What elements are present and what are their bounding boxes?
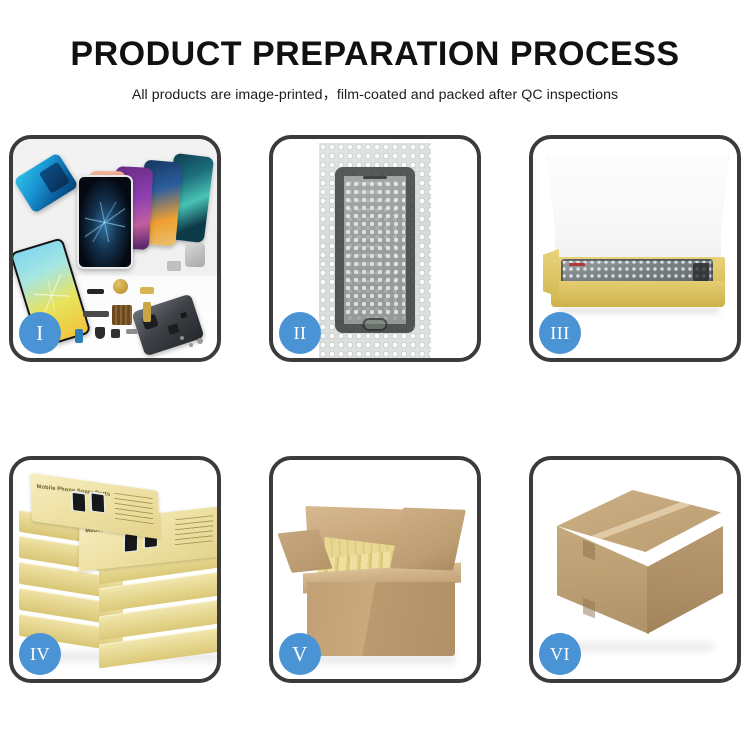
- bubble-wrap-overlay: [345, 181, 405, 317]
- step-panel-3: III: [529, 135, 741, 362]
- spare-part-metal-plate: [185, 243, 205, 267]
- step-panel-2: II: [269, 135, 481, 362]
- spare-part-chip-grid: [112, 305, 132, 325]
- step-panel-1: I: [9, 135, 221, 362]
- step-badge-5: V: [279, 633, 321, 675]
- spare-part-connector: [87, 289, 104, 294]
- spare-part-gold-flex: [140, 287, 154, 294]
- process-steps-grid: I II: [9, 135, 741, 683]
- box-spec-text-lines-2: [175, 515, 213, 545]
- step-panel-5: V: [269, 456, 481, 683]
- step-panel-6: VI: [529, 456, 741, 683]
- spare-part-button: [95, 327, 105, 339]
- kraft-box-left-flap: [543, 249, 559, 297]
- box-spec-text-lines-1: [114, 493, 153, 525]
- step-panel-4: Mobile Phone Spare Parts Mobile Phone Sp…: [9, 456, 221, 683]
- packed-screen-red-marker: [569, 263, 585, 266]
- step-badge-3: III: [539, 312, 581, 354]
- phone-screen-black-cracked: [77, 175, 133, 269]
- spare-part-blue-clip: [75, 329, 83, 343]
- product-preparation-process-page: PRODUCT PREPARATION PROCESS All products…: [0, 0, 750, 750]
- sealed-carton-shadow: [565, 643, 713, 651]
- step-badge-1: I: [19, 312, 61, 354]
- spare-part-gold-strip: [143, 302, 151, 322]
- kraft-box-shadow: [559, 307, 719, 314]
- page-title: PRODUCT PREPARATION PROCESS: [0, 36, 750, 73]
- spare-part-shield: [167, 261, 181, 271]
- spare-part-bracket: [126, 329, 138, 334]
- step-badge-4: IV: [19, 633, 61, 675]
- carton-shadow: [309, 655, 455, 663]
- kraft-box-back-wall: [555, 193, 721, 261]
- kraft-box-front-wall: [551, 281, 725, 307]
- box-artwork-screen-c: [71, 491, 87, 513]
- bubble-wrap-sheet: [319, 143, 431, 358]
- spare-part-module: [111, 329, 120, 338]
- carton-right-flap: [390, 508, 466, 571]
- box-artwork-screen-d: [90, 491, 106, 513]
- carton-body: [307, 582, 455, 656]
- header: PRODUCT PREPARATION PROCESS All products…: [0, 36, 750, 104]
- step-badge-2: II: [279, 312, 321, 354]
- spare-part-speaker-coil: [113, 279, 128, 294]
- page-subtitle: All products are image-printed，film-coat…: [0, 84, 750, 104]
- step-badge-6: VI: [539, 633, 581, 675]
- spare-part-screws: [197, 338, 203, 344]
- spare-part-cable: [83, 311, 109, 317]
